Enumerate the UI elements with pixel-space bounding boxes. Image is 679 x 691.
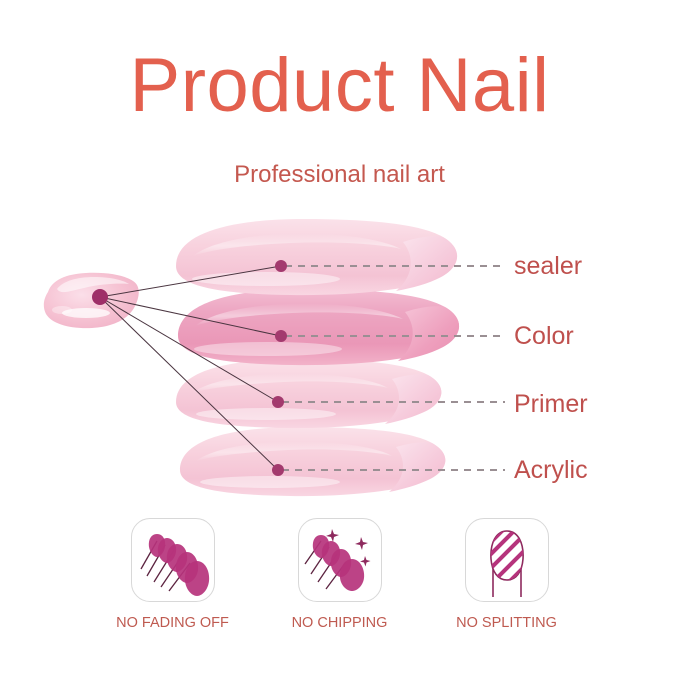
feature-no-splitting: NO SPLITTING	[460, 518, 553, 631]
layer-label-sealer: sealer	[514, 254, 582, 279]
dot-acrylic	[272, 464, 284, 476]
layer-acrylic	[180, 427, 445, 496]
feature-caption: NO FADING OFF	[116, 616, 229, 631]
feature-no-chipping: NO CHIPPING	[293, 518, 386, 631]
layer-primer	[176, 359, 441, 428]
dot-primer	[272, 396, 284, 408]
striped-nail-icon	[465, 518, 549, 602]
dot-sealer	[275, 260, 287, 272]
layer-sealer	[176, 219, 457, 295]
layer-label-color: Color	[514, 324, 574, 349]
layer-color	[178, 289, 459, 365]
nail-thumbnail	[44, 273, 139, 328]
five-nails-fading-icon	[131, 518, 215, 602]
feature-caption: NO SPLITTING	[456, 616, 557, 631]
layer-label-primer: Primer	[514, 392, 588, 417]
poster-canvas: Product Nail Professional nail art	[0, 0, 679, 691]
feature-caption: NO CHIPPING	[292, 616, 388, 631]
layer-label-acrylic: Acrylic	[514, 458, 588, 483]
feature-no-fading-off: NO FADING OFF	[126, 518, 219, 631]
nails-sparkle-icon	[298, 518, 382, 602]
dot-color	[275, 330, 287, 342]
feature-badge-list: NO FADING OFF	[0, 518, 679, 631]
hub-dot	[92, 289, 108, 305]
